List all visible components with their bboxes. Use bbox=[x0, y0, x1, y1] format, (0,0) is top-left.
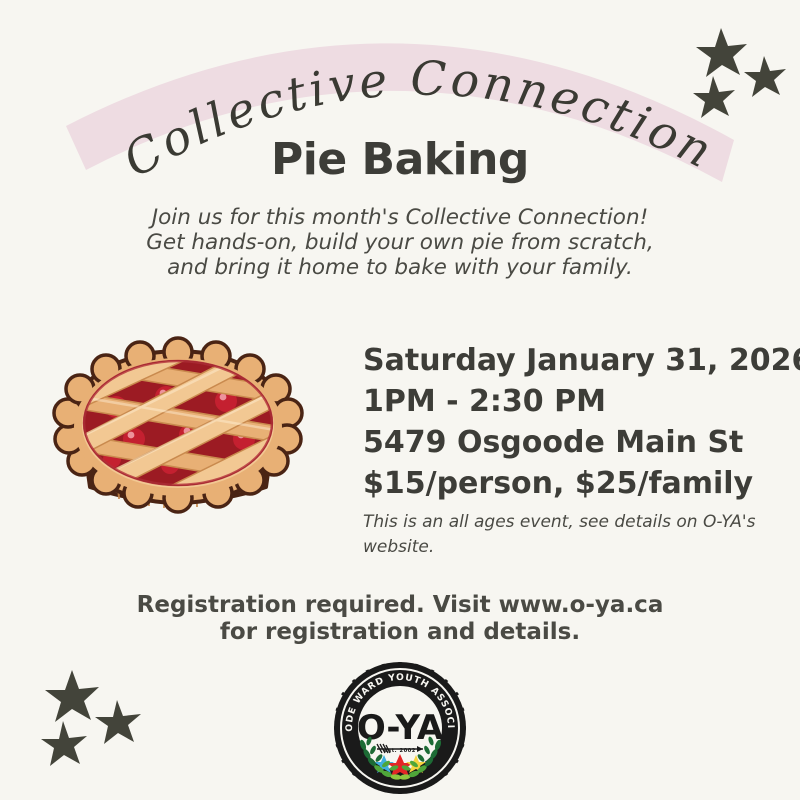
star-icon bbox=[45, 670, 99, 722]
oya-logo: OSGOODE WARD YOUTH ASSOCIATION O-YA est.… bbox=[333, 661, 467, 795]
star-icon bbox=[744, 56, 786, 97]
intro-line-1: Join us for this month's Collective Conn… bbox=[0, 205, 800, 230]
event-address: 5479 Osgoode Main St bbox=[363, 422, 783, 463]
decorative-stars-top-right bbox=[690, 24, 790, 124]
event-time: 1PM - 2:30 PM bbox=[363, 381, 783, 422]
registration-line-1: Registration required. Visit www.o-ya.ca bbox=[0, 592, 800, 619]
star-icon bbox=[696, 28, 747, 77]
event-price: $15/person, $25/family bbox=[363, 463, 783, 504]
registration-line-2: for registration and details. bbox=[0, 619, 800, 646]
decorative-stars-bottom-left bbox=[38, 666, 148, 776]
registration-info: Registration required. Visit www.o-ya.ca… bbox=[0, 592, 800, 646]
poster-canvas: Collective Connection Pie Baking Join us… bbox=[0, 0, 800, 800]
intro-line-2: Get hands-on, build your own pie from sc… bbox=[0, 230, 800, 255]
logo-established-text: est. 2002 bbox=[384, 748, 416, 754]
banner-arc-container: Collective Connection bbox=[0, 0, 800, 230]
pie-illustration bbox=[38, 335, 318, 535]
star-icon bbox=[95, 700, 141, 744]
event-note: This is an all ages event, see details o… bbox=[363, 510, 763, 560]
page-title: Pie Baking bbox=[0, 134, 800, 185]
intro-line-3: and bring it home to bake with your fami… bbox=[0, 255, 800, 280]
event-details: Saturday January 31, 2026 1PM - 2:30 PM … bbox=[363, 340, 783, 560]
star-icon bbox=[41, 721, 87, 766]
star-icon bbox=[693, 76, 735, 118]
intro-paragraph: Join us for this month's Collective Conn… bbox=[0, 205, 800, 280]
event-date: Saturday January 31, 2026 bbox=[363, 340, 783, 381]
